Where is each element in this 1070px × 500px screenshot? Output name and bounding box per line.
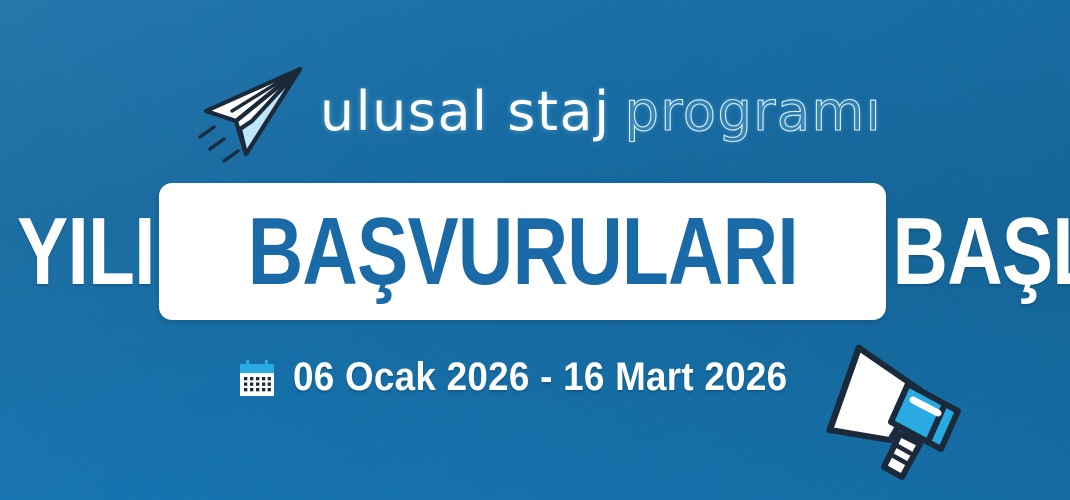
logo-wordmark: ulusal staj programı <box>320 80 882 143</box>
headline-right-text: BAŞLA <box>893 183 1070 320</box>
headline-boxed-text: BAŞVURULARI <box>247 183 797 320</box>
headline-left-text: 26 YILI <box>0 183 155 320</box>
logo-word-bold: ulusal staj <box>320 80 611 143</box>
date-range-row: 06 Ocak 2026 - 16 Mart 2026 <box>0 348 1070 406</box>
promo-banner: ulusal staj programı 26 YILI BAŞVURULARI… <box>0 0 1070 500</box>
headline-highlight-box: BAŞVURULARI <box>159 183 887 320</box>
date-range-text: 06 Ocak 2026 - 16 Mart 2026 <box>293 355 787 400</box>
logo-lockup: ulusal staj programı <box>0 56 1070 166</box>
paper-plane-icon <box>188 59 308 164</box>
logo-word-thin: programı <box>625 80 883 143</box>
calendar-icon <box>239 359 275 397</box>
headline: 26 YILI BAŞVURULARI BAŞLA <box>0 183 1070 320</box>
